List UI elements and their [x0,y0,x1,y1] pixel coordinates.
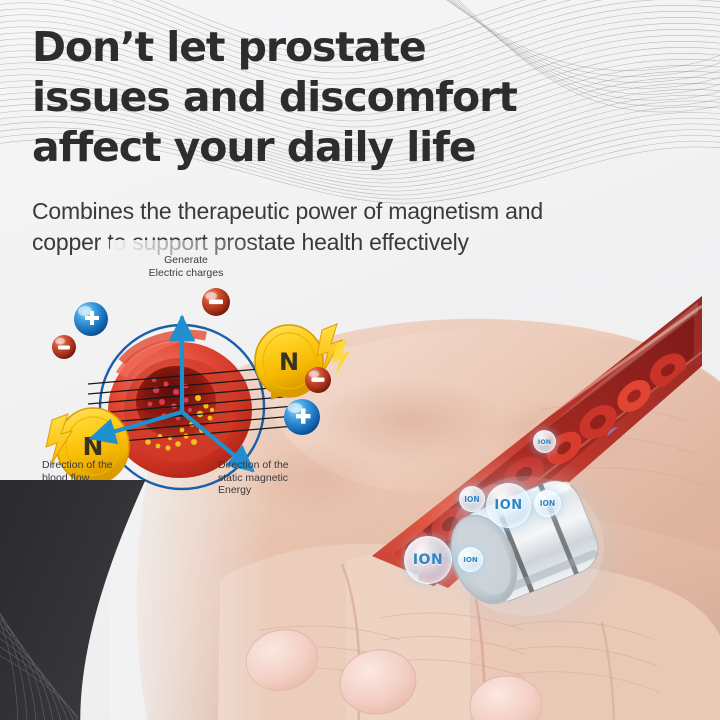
ion-bubble: ION [486,483,531,528]
headline-line-1: Don’t let prostate [32,22,632,72]
ion-bubble: ION [534,490,561,517]
ion-bubble: ION [458,547,483,572]
headline-line-2: issues and discomfort [32,72,632,122]
negative-charge-icon-1 [52,335,76,359]
positive-charge-icon-2 [284,399,320,435]
page-title: Don’t let prostate issues and discomfort… [32,22,632,172]
ion-bubble: ION [459,486,485,512]
promo-banner: Don’t let prostate issues and discomfort… [0,0,720,720]
diagram-label-blood-flow: Direction of the blood flow [42,459,113,484]
diagram-label-magnetic: Direction of the static magnetic Energy [218,459,289,497]
subheading-line-1: Combines the therapeutic power of magnet… [32,196,672,227]
magnetism-diagram: N N [30,252,380,517]
ion-bubble-small: ION [533,430,556,453]
headline-line-3: affect your daily life [32,122,632,172]
ion-bubble: ION [404,536,452,584]
positive-charge-icon-1 [74,302,108,336]
magnet-pole-right: N [279,348,299,376]
negative-charge-icon-2 [202,288,230,316]
negative-charge-icon-3 [305,367,331,393]
diagram-label-generate: Generate Electric charges [116,254,256,279]
copper-magnet-ring [420,450,640,640]
